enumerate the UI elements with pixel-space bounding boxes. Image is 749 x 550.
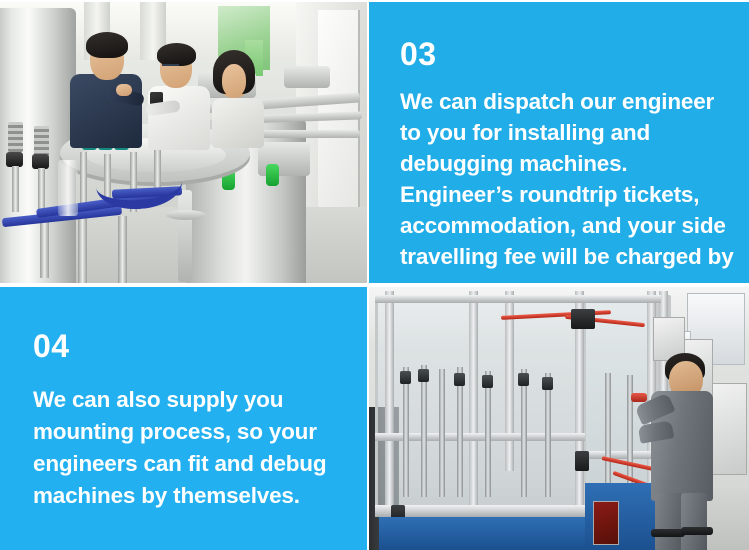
glasses: [162, 64, 179, 70]
leg-right: [681, 493, 707, 550]
service-steps-banner: 03 We can dispatch our engineer to you f…: [0, 0, 749, 550]
leg-left: [655, 493, 683, 550]
filling-valve-column: [403, 367, 409, 497]
valve-head: [454, 373, 465, 386]
valve-head: [418, 369, 429, 382]
machine-leg: [78, 214, 87, 283]
piston-bellow: [8, 122, 23, 152]
piston-cap: [6, 152, 23, 167]
shoe-left: [651, 529, 685, 537]
valve-head: [400, 371, 411, 384]
frame-mullion: [385, 291, 394, 523]
door-hinge: [575, 451, 589, 471]
filling-valve-column: [439, 369, 445, 497]
hair: [157, 43, 196, 66]
step-04-text-block: 04 We can also supply you mounting proce…: [33, 330, 353, 512]
pointing-hand: [116, 84, 132, 96]
step-03-body: We can dispatch our engineer to you for …: [400, 86, 736, 283]
piston-rod: [12, 166, 19, 212]
step-04-number: 04: [33, 330, 353, 362]
plastic-bottle: [58, 160, 78, 216]
navy-shirt-torso: [70, 74, 142, 148]
machine-foot: [166, 210, 206, 220]
filling-valve-column: [457, 367, 463, 497]
filling-valve-column: [605, 373, 611, 493]
valve-head: [542, 377, 553, 390]
panel-top-left-photo: [0, 2, 367, 283]
machine-leg: [118, 216, 127, 283]
piston-bellow: [34, 126, 49, 156]
carousel-rod: [80, 152, 87, 208]
door-hinge: [581, 309, 595, 329]
filling-valve-column: [545, 373, 551, 497]
factory-staff-inspection-photo: [0, 2, 367, 283]
filling-valve-column: [421, 365, 427, 497]
face-front: [222, 64, 246, 97]
step-03-text-block: 03 We can dispatch our engineer to you f…: [400, 38, 736, 283]
frame-rail-top: [375, 295, 661, 303]
red-hand-tool: [631, 393, 647, 402]
hair: [86, 32, 128, 58]
panel-bottom-right-photo: [369, 287, 749, 550]
green-valve: [266, 164, 279, 186]
panel-step-03: 03 We can dispatch our engineer to you f…: [369, 2, 749, 283]
filling-valve-column: [485, 371, 491, 497]
machine-frame-bar: [250, 130, 360, 138]
wall-panel: [318, 10, 360, 232]
valve-head: [518, 373, 529, 386]
step-03-number: 03: [400, 38, 736, 70]
shoe-right: [681, 527, 713, 535]
machine-leg: [178, 190, 192, 282]
valve-head: [482, 375, 493, 388]
filling-valve-column: [521, 369, 527, 497]
red-control-unit: [593, 501, 619, 545]
step-04-body: We can also supply you mounting process,…: [33, 384, 353, 512]
woman-torso: [212, 98, 264, 148]
machine-housing: [284, 66, 330, 88]
piston-cap: [32, 154, 49, 169]
technician-operating-filling-line-photo: [369, 287, 749, 550]
frame-mullion: [469, 291, 478, 523]
